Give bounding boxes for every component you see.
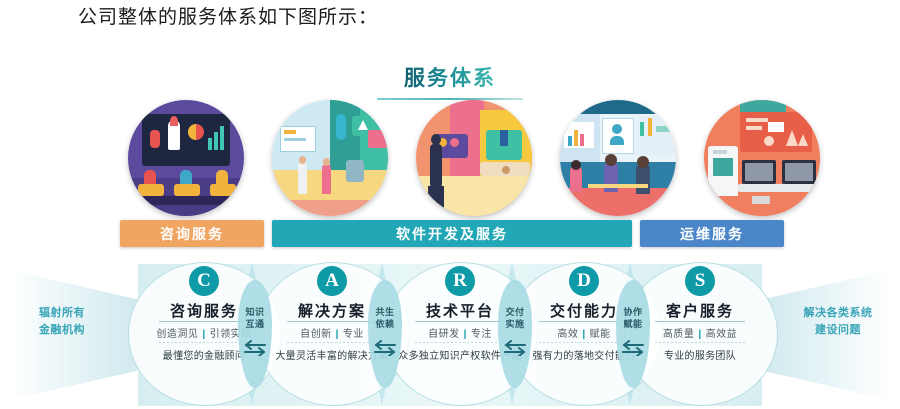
- connector-symbiosis-text: 共生 依赖: [368, 306, 402, 330]
- connector-symbiosis-line1: 共生: [368, 306, 402, 318]
- connector-collaboration: 协作 赋能: [616, 280, 650, 388]
- connector-leaf-shape: [498, 280, 532, 388]
- page-caption: 公司整体的服务体系如下图所示：: [78, 2, 378, 29]
- connector-delivery: 交付 实施: [498, 280, 532, 388]
- connector-knowledge-line1: 知识: [238, 306, 272, 318]
- connector-collaboration-line2: 赋能: [616, 318, 650, 330]
- connector-leaf-shape: [616, 280, 650, 388]
- band-right-label-line2: 建设问题: [790, 322, 886, 339]
- illustration-row: [0, 100, 900, 216]
- diagram-header: 服务体系: [0, 62, 900, 100]
- diagram-title: 服务体系: [404, 62, 496, 92]
- cards-band: 辐射所有 金融机构 解决各类系统 建设问题 C 咨询服务 创造洞见|引领实践 最…: [0, 258, 900, 409]
- connector-collaboration-line1: 协作: [616, 306, 650, 318]
- card-sub-left-r: 自研发: [428, 329, 460, 340]
- band-right-label-line1: 解决各类系统: [790, 305, 886, 322]
- card-sub-sep-d: |: [582, 329, 585, 340]
- card-rule-s: [655, 321, 745, 322]
- circle-team-scene: [560, 100, 676, 216]
- double-arrow-icon: [373, 340, 397, 356]
- connector-knowledge: 知识 互通: [238, 280, 272, 388]
- band-left-label-line1: 辐射所有: [14, 305, 110, 322]
- service-label-bars: 咨询服务 软件开发及服务 运维服务: [0, 220, 900, 248]
- card-sub-left-a: 自创新: [300, 329, 332, 340]
- card-badge-r: R: [445, 266, 475, 296]
- bar-operations[interactable]: 运维服务: [640, 220, 784, 247]
- connector-leaf-shape: [238, 280, 272, 388]
- card-sub-right-d: 赋能: [590, 329, 611, 340]
- card-sub-left-c: 创造洞见: [156, 329, 198, 340]
- bar-consulting[interactable]: 咨询服务: [120, 220, 264, 247]
- card-badge-a: A: [317, 266, 347, 296]
- circle-operations-scene: [704, 100, 820, 216]
- card-sub-left-s: 高质量: [663, 329, 695, 340]
- circle-development-scene: [416, 100, 532, 216]
- double-arrow-icon: [243, 340, 267, 356]
- card-rule-a: [287, 321, 377, 322]
- double-arrow-icon: [503, 340, 527, 356]
- card-badge-s: S: [685, 266, 715, 296]
- card-badge-d: D: [569, 266, 599, 296]
- card-sub-left-d: 高效: [557, 329, 578, 340]
- card-dotline-s: [655, 342, 745, 343]
- bar-software-development-label: 软件开发及服务: [396, 224, 508, 244]
- double-arrow-icon: [621, 340, 645, 356]
- bar-software-development[interactable]: 软件开发及服务: [272, 220, 632, 247]
- circle-software-scene: [272, 100, 388, 216]
- connector-symbiosis-line2: 依赖: [368, 318, 402, 330]
- circle-consulting-scene: [128, 100, 244, 216]
- card-sub-right-r: 专注: [471, 329, 492, 340]
- connector-collaboration-text: 协作 赋能: [616, 306, 650, 330]
- connector-delivery-line1: 交付: [498, 306, 532, 318]
- band-left-label-line2: 金融机构: [14, 322, 110, 339]
- bar-consulting-label: 咨询服务: [160, 224, 224, 244]
- card-rule-c: [159, 321, 249, 322]
- card-sub-right-a: 专业: [343, 329, 364, 340]
- service-system-diagram: 服务体系: [0, 48, 900, 409]
- card-sub-sep-c: |: [202, 329, 205, 340]
- card-sub-right-s: 高效益: [706, 329, 738, 340]
- connector-leaf-shape: [368, 280, 402, 388]
- connector-delivery-text: 交付 实施: [498, 306, 532, 330]
- card-dotline-r: [415, 342, 505, 343]
- card-dotline-c: [159, 342, 249, 343]
- card-rule-r: [415, 321, 505, 322]
- band-left-label: 辐射所有 金融机构: [14, 305, 110, 339]
- card-dotline-a: [287, 342, 377, 343]
- connector-delivery-line2: 实施: [498, 318, 532, 330]
- card-sub-sep-a: |: [336, 329, 339, 340]
- connector-knowledge-line2: 互通: [238, 318, 272, 330]
- bar-operations-label: 运维服务: [680, 224, 744, 244]
- band-right-label: 解决各类系统 建设问题: [790, 305, 886, 339]
- card-sub-sep-s: |: [698, 329, 701, 340]
- card-badge-c: C: [189, 266, 219, 296]
- card-sub-sep-r: |: [464, 329, 467, 340]
- connector-knowledge-text: 知识 互通: [238, 306, 272, 330]
- connector-symbiosis: 共生 依赖: [368, 280, 402, 388]
